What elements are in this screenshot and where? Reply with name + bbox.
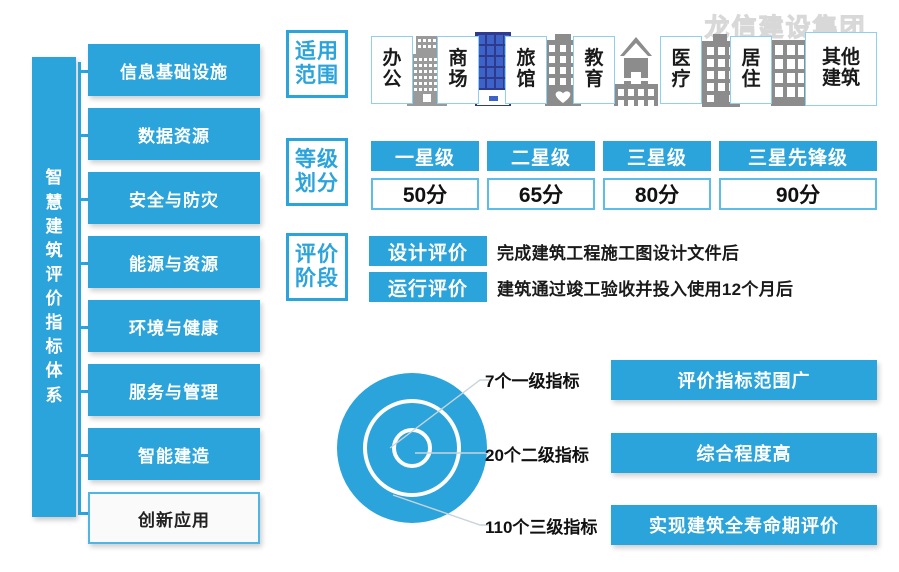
- indicator-count-level3: 110个三级指标: [485, 513, 597, 537]
- grade-score-1: 50分: [371, 178, 479, 210]
- sidebar-item-energy-resource[interactable]: 能源与资源: [88, 236, 260, 288]
- bracket-trunk: [78, 62, 81, 514]
- grade-score-label: 90分: [776, 179, 820, 209]
- indicator-feature-label: 实现建筑全寿命期评价: [649, 512, 839, 538]
- scope-chip-line2: 建筑: [822, 69, 860, 90]
- scope-label-box: 适用 范围: [286, 30, 348, 98]
- vertical-title-char: 价: [46, 287, 63, 311]
- scope-chip-line1: 医: [671, 49, 690, 70]
- sidebar-item-label: 智能建造: [138, 442, 210, 467]
- scope-chip-hotel[interactable]: 旅 馆: [505, 36, 547, 104]
- sidebar-item-innovation-application[interactable]: 创新应用: [88, 492, 260, 544]
- grade-score-label: 65分: [519, 179, 563, 209]
- grade-name-2[interactable]: 二星级: [487, 141, 595, 171]
- scope-chip-other[interactable]: 其他 建筑: [805, 32, 877, 106]
- scope-chip-line2: 场: [448, 70, 467, 91]
- indicator-count-level2: 20个二级指标: [485, 441, 589, 465]
- stage-desc-label: 建筑通过竣工验收并投入使用12个月后: [497, 275, 793, 300]
- indicator-feature-full-lifecycle[interactable]: 实现建筑全寿命期评价: [611, 505, 877, 545]
- scope-label-line1: 适用: [295, 40, 339, 64]
- sidebar-item-info-infrastructure[interactable]: 信息基础设施: [88, 44, 260, 96]
- scope-chip-line1: 教: [584, 49, 603, 70]
- scope-label-line2: 范围: [295, 64, 339, 88]
- scope-chip-office[interactable]: 办 公: [371, 36, 413, 104]
- grade-label-line1: 等级: [295, 148, 339, 172]
- residence-building-icon: [768, 38, 810, 108]
- scope-chip-residence[interactable]: 居 住: [730, 36, 772, 104]
- indicator-feature-label: 综合程度高: [697, 440, 792, 466]
- stage-desc-operation: 建筑通过竣工验收并投入使用12个月后: [497, 272, 793, 302]
- sidebar-item-intelligent-construction[interactable]: 智能建造: [88, 428, 260, 480]
- sidebar-item-label: 服务与管理: [129, 378, 219, 403]
- sidebar-item-label: 数据资源: [138, 122, 210, 147]
- vertical-title-char: 指: [46, 311, 63, 335]
- vertical-title-char: 标: [46, 335, 63, 359]
- grade-name-3[interactable]: 三星级: [603, 141, 711, 171]
- grade-name-4[interactable]: 三星先锋级: [719, 141, 877, 171]
- scope-chip-education[interactable]: 教 育: [573, 36, 615, 104]
- indicator-count-label: 20个二级指标: [485, 441, 589, 466]
- stage-label-line1: 评价: [295, 243, 339, 267]
- grade-name-label: 三星级: [627, 143, 687, 170]
- infographic-canvas: 龙信建设集团 WWW.LXGROUP.CN 智 慧 建 筑 评 价 指 标 体 …: [0, 0, 899, 572]
- indicator-feature-high-integration[interactable]: 综合程度高: [611, 433, 877, 473]
- scope-chip-line2: 疗: [671, 70, 690, 91]
- stage-desc-design: 完成建筑工程施工图设计文件后: [497, 236, 739, 266]
- stage-label-box: 评价 阶段: [286, 233, 348, 301]
- sidebar-item-label: 安全与防灾: [129, 186, 219, 211]
- stage-desc-label: 完成建筑工程施工图设计文件后: [497, 239, 739, 264]
- vertical-title-char: 筑: [46, 239, 63, 263]
- grade-score-label: 50分: [403, 179, 447, 209]
- grade-score-label: 80分: [635, 179, 679, 209]
- scope-chip-line1: 其他: [822, 48, 860, 69]
- vertical-title-char: 评: [46, 263, 63, 287]
- stage-tag-label: 运行评价: [388, 274, 468, 301]
- indicator-feature-broad-scope[interactable]: 评价指标范围广: [611, 360, 877, 400]
- stage-tag-design[interactable]: 设计评价: [369, 236, 487, 266]
- vertical-title-char: 智: [46, 166, 63, 190]
- stage-tag-operation[interactable]: 运行评价: [369, 272, 487, 302]
- scope-chip-line1: 居: [741, 49, 760, 70]
- scope-chip-line2: 住: [741, 70, 760, 91]
- vertical-title-char: 体: [46, 359, 63, 383]
- scope-chip-mall[interactable]: 商 场: [437, 36, 479, 104]
- vertical-title-char: 建: [46, 215, 63, 239]
- school-building-icon: [612, 34, 660, 108]
- scope-chip-line1: 旅: [516, 49, 535, 70]
- scope-chip-line1: 办: [382, 49, 401, 70]
- grade-label-line2: 划分: [295, 172, 339, 196]
- sidebar-item-label: 环境与健康: [129, 314, 219, 339]
- indicator-feature-label: 评价指标范围广: [678, 367, 811, 393]
- sidebar-item-service-management[interactable]: 服务与管理: [88, 364, 260, 416]
- indicator-count-label: 110个三级指标: [485, 513, 597, 538]
- scope-chip-line2: 馆: [516, 70, 535, 91]
- vertical-title-bar: 智 慧 建 筑 评 价 指 标 体 系: [32, 57, 76, 517]
- vertical-title-char: 慧: [46, 191, 63, 215]
- scope-chip-line2: 公: [382, 70, 401, 91]
- vertical-title-char: 系: [46, 384, 63, 408]
- grade-score-2: 65分: [487, 178, 595, 210]
- grade-score-3: 80分: [603, 178, 711, 210]
- scope-chip-line2: 育: [584, 70, 603, 91]
- sidebar-item-label: 创新应用: [138, 506, 210, 531]
- scope-chip-medical[interactable]: 医 疗: [660, 36, 702, 104]
- sidebar-item-data-resource[interactable]: 数据资源: [88, 108, 260, 160]
- scope-chip-line1: 商: [448, 49, 467, 70]
- grade-name-label: 三星先锋级: [748, 143, 848, 170]
- grade-name-1[interactable]: 一星级: [371, 141, 479, 171]
- grade-name-label: 二星级: [511, 143, 571, 170]
- sidebar-item-safety-disaster[interactable]: 安全与防灾: [88, 172, 260, 224]
- grade-name-label: 一星级: [395, 143, 455, 170]
- indicator-count-label: 7个一级指标: [485, 367, 579, 392]
- grade-score-4: 90分: [719, 178, 877, 210]
- indicator-count-level1: 7个一级指标: [485, 367, 579, 391]
- stage-tag-label: 设计评价: [388, 238, 468, 265]
- stage-label-line2: 阶段: [295, 267, 339, 291]
- sidebar-item-label: 信息基础设施: [120, 58, 228, 83]
- sidebar-item-environment-health[interactable]: 环境与健康: [88, 300, 260, 352]
- grade-label-box: 等级 划分: [286, 138, 348, 206]
- sidebar-item-label: 能源与资源: [129, 250, 219, 275]
